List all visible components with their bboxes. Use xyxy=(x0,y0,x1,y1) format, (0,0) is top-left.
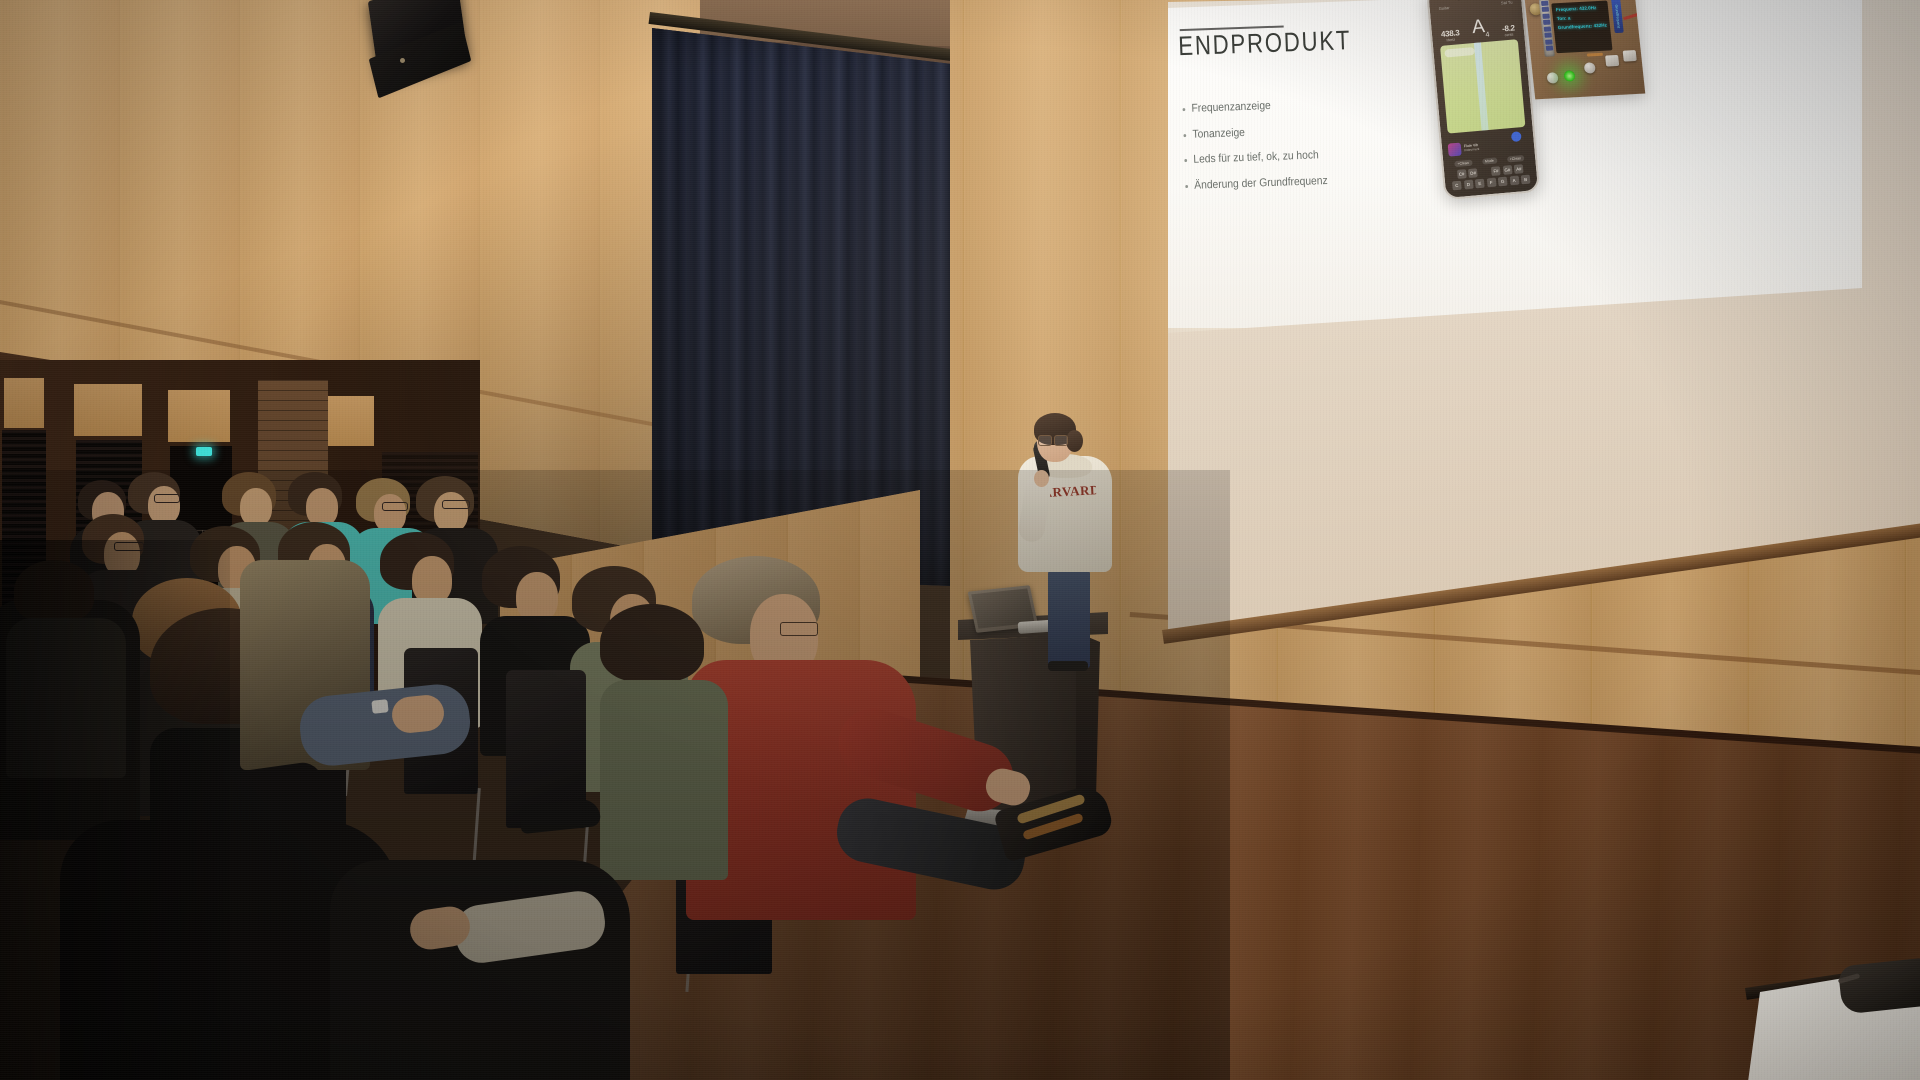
key: A xyxy=(1509,176,1519,186)
song-subtitle: Instrument xyxy=(1464,147,1479,152)
bullet-dot xyxy=(1184,159,1187,162)
head xyxy=(306,488,338,526)
bullet-text: Änderung der Grundfrequenz xyxy=(1194,175,1328,193)
speaker-badge xyxy=(400,58,405,63)
bullet-text: Frequenzanzeige xyxy=(1191,100,1271,116)
device-button xyxy=(1584,62,1596,74)
projection-screen: ENDPRODUKT Frequenzanzeige Tonanzeige Le… xyxy=(1168,0,1920,644)
note-letter: A xyxy=(1471,16,1485,38)
head xyxy=(516,572,558,622)
window-transom xyxy=(4,378,44,428)
key: C xyxy=(1452,181,1462,191)
presenter-hand xyxy=(1034,470,1049,487)
note-octave: 4 xyxy=(1485,32,1490,39)
device-line-1: Frequenz: 432.0Hz xyxy=(1556,4,1609,12)
auditorium-photo: ENDPRODUKT Frequenzanzeige Tonanzeige Le… xyxy=(0,0,1920,1080)
device-line-2: Ton: a xyxy=(1557,13,1610,21)
device-cable xyxy=(1623,11,1645,20)
device-oled-display: Frequenz: 432.0Hz Ton: a Grundfrequenz: … xyxy=(1551,0,1612,53)
table-object xyxy=(1838,957,1920,1014)
wristwatch xyxy=(371,699,388,714)
bullet-dot xyxy=(1183,134,1186,137)
bullet-text: Leds für zu tief, ok, zu hoch xyxy=(1193,150,1319,168)
head xyxy=(412,556,452,604)
frequency-readout: 438.3 Hertz xyxy=(1441,28,1461,43)
glasses-lens xyxy=(1054,435,1068,446)
device-indicator-bar xyxy=(1587,53,1603,57)
window-transom xyxy=(168,390,230,442)
glasses-icon xyxy=(382,502,408,511)
key: C# xyxy=(1457,169,1467,179)
bullet-dot xyxy=(1185,185,1188,188)
glasses-icon xyxy=(1038,435,1068,444)
phone-note-keyboard: C# D# F# G# A# C D E F G xyxy=(1449,163,1533,194)
frequency-unit: Hertz xyxy=(1446,38,1455,43)
key: D xyxy=(1463,180,1473,190)
slide-title: ENDPRODUKT xyxy=(1178,25,1352,62)
device-square-button xyxy=(1605,55,1619,67)
projected-slide: ENDPRODUKT Frequenzanzeige Tonanzeige Le… xyxy=(1162,0,1862,328)
cents-readout: -8.2 cents xyxy=(1502,23,1516,37)
glasses-icon xyxy=(442,500,470,509)
key: F# xyxy=(1491,166,1501,176)
tuning-needle xyxy=(1474,42,1489,130)
key: E xyxy=(1475,179,1485,189)
cents-unit: cents xyxy=(1505,33,1514,38)
status-led-icon xyxy=(1563,70,1575,82)
presenter-hair-bun xyxy=(1066,430,1083,452)
slide-content: ENDPRODUKT Frequenzanzeige Tonanzeige Le… xyxy=(1156,0,1868,332)
gauge-chip xyxy=(1444,47,1475,58)
list-item: Leds für zu tief, ok, zu hoch xyxy=(1184,144,1481,168)
album-art xyxy=(1448,142,1462,156)
audience xyxy=(0,520,1230,1080)
pill: +Clean xyxy=(1506,155,1524,163)
device-slider-right: Grundfrequenz xyxy=(1611,0,1624,33)
note-readout: A4 xyxy=(1472,19,1490,40)
hair xyxy=(14,560,94,622)
head xyxy=(148,486,180,524)
device-line-3: Grundfrequenz: 432Hz xyxy=(1558,22,1611,30)
window-transom xyxy=(74,384,142,436)
key: D# xyxy=(1468,168,1478,178)
list-item: Tonanzeige xyxy=(1183,118,1480,142)
torso xyxy=(6,618,126,778)
pill: +Clean xyxy=(1454,159,1472,167)
key: G# xyxy=(1503,165,1513,175)
slide-device-mockup: Frequenz: 432.0Hz Ton: a Grundfrequenz: … xyxy=(1523,0,1645,99)
torso xyxy=(600,680,728,880)
curtain-shading xyxy=(652,18,1002,588)
key: B xyxy=(1521,175,1531,185)
pill: Mode xyxy=(1482,157,1497,164)
phone-top-left: Guitar xyxy=(1438,5,1449,11)
window-transom xyxy=(328,396,374,446)
bullet-dot xyxy=(1183,108,1186,111)
slide-phone-mockup: Guitar Std Tu 438.3 Hertz A4 -8.2 xyxy=(1426,0,1540,200)
key: A# xyxy=(1514,164,1524,174)
glasses-icon xyxy=(780,622,818,636)
phone-readouts: 438.3 Hertz A4 -8.2 cents xyxy=(1435,8,1519,43)
tuning-gauge xyxy=(1440,39,1525,134)
device-slider-label: Grundfrequenz xyxy=(1614,4,1619,13)
list-item: Änderung der Grundfrequenz xyxy=(1185,169,1482,193)
glasses-icon xyxy=(114,542,144,551)
phone-top-right: Std Tu xyxy=(1501,0,1513,5)
device-button xyxy=(1547,72,1559,84)
device-square-button xyxy=(1623,50,1637,62)
bullet-text: Tonanzeige xyxy=(1192,127,1245,142)
head xyxy=(374,494,406,532)
glasses-lens xyxy=(1038,435,1052,446)
key: F xyxy=(1486,178,1496,188)
key-gap xyxy=(1480,167,1490,177)
exit-light xyxy=(196,447,212,456)
key: G xyxy=(1498,177,1508,187)
glasses-icon xyxy=(154,494,180,503)
head xyxy=(240,488,272,526)
hair xyxy=(600,604,704,682)
head xyxy=(434,492,468,532)
